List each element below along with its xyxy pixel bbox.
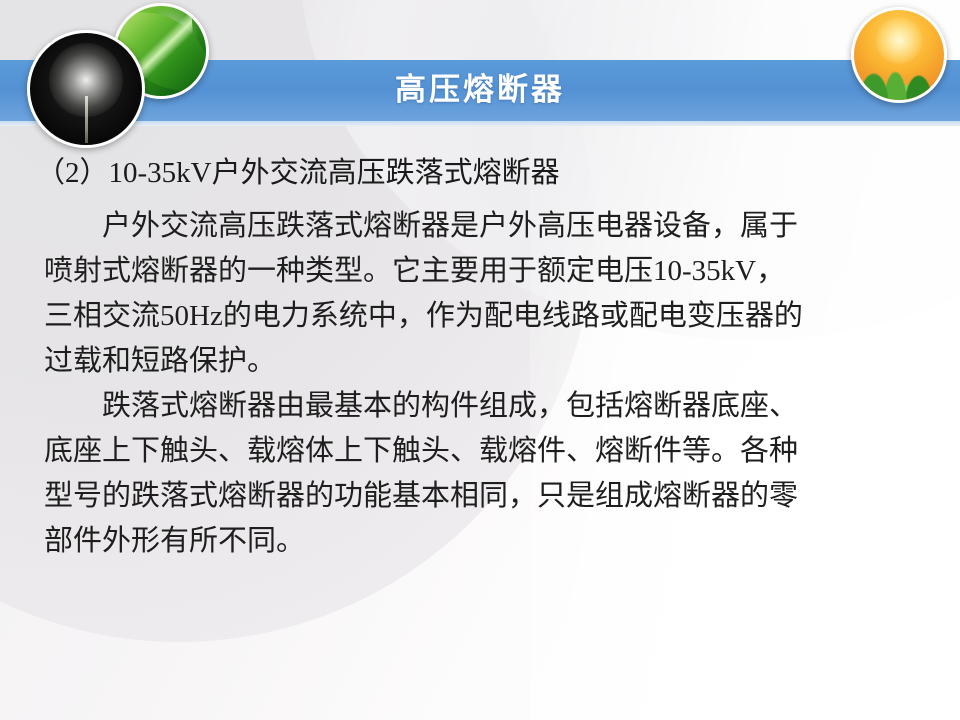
- dandelion-photo-icon: [27, 30, 145, 148]
- sunrise-grass-photo-icon: [851, 7, 947, 103]
- paragraph-1-line-3: 三相交流50Hz的电力系统中，作为配电线路或配电变压器的: [44, 294, 914, 339]
- dandelion-puff-icon: [49, 43, 123, 117]
- paragraph-2: 跌落式熔断器由最基本的构件组成，包括熔断器底座、 底座上下触头、载熔体上下触头、…: [0, 384, 960, 564]
- paragraph-2-line-2: 底座上下触头、载熔体上下触头、载熔件、熔断件等。各种: [44, 429, 914, 474]
- paragraph-2-line-4: 部件外形有所不同。: [44, 519, 914, 564]
- paragraph-1-line-2: 喷射式熔断器的一种类型。它主要用于额定电压10-35kV，: [44, 249, 914, 294]
- paragraph-1-line-4: 过载和短路保护。: [44, 339, 914, 384]
- paragraph-2-line-1: 跌落式熔断器由最基本的构件组成，包括熔断器底座、: [44, 384, 914, 429]
- title-band-underline: [0, 121, 960, 126]
- paragraph-1-line-1-text: 户外交流高压跌落式熔断器是户外高压电器设备，属于: [102, 210, 798, 242]
- section-heading: （2）10-35kV户外交流高压跌落式熔断器: [36, 150, 960, 196]
- grass-silhouette-icon: [854, 44, 944, 100]
- paragraph-2-line-1-text: 跌落式熔断器由最基本的构件组成，包括熔断器底座、: [102, 390, 798, 422]
- slide-content: （2）10-35kV户外交流高压跌落式熔断器 户外交流高压跌落式熔断器是户外高压…: [0, 150, 960, 564]
- slide-canvas: 高压熔断器 （2）10-35kV户外交流高压跌落式熔断器 户外交流高压跌落式熔断…: [0, 0, 960, 720]
- paragraph-2-line-3: 型号的跌落式熔断器的功能基本相同，只是组成熔断器的零: [44, 474, 914, 519]
- paragraph-1: 户外交流高压跌落式熔断器是户外高压电器设备，属于 喷射式熔断器的一种类型。它主要…: [0, 204, 960, 384]
- paragraph-1-line-1: 户外交流高压跌落式熔断器是户外高压电器设备，属于: [44, 204, 914, 249]
